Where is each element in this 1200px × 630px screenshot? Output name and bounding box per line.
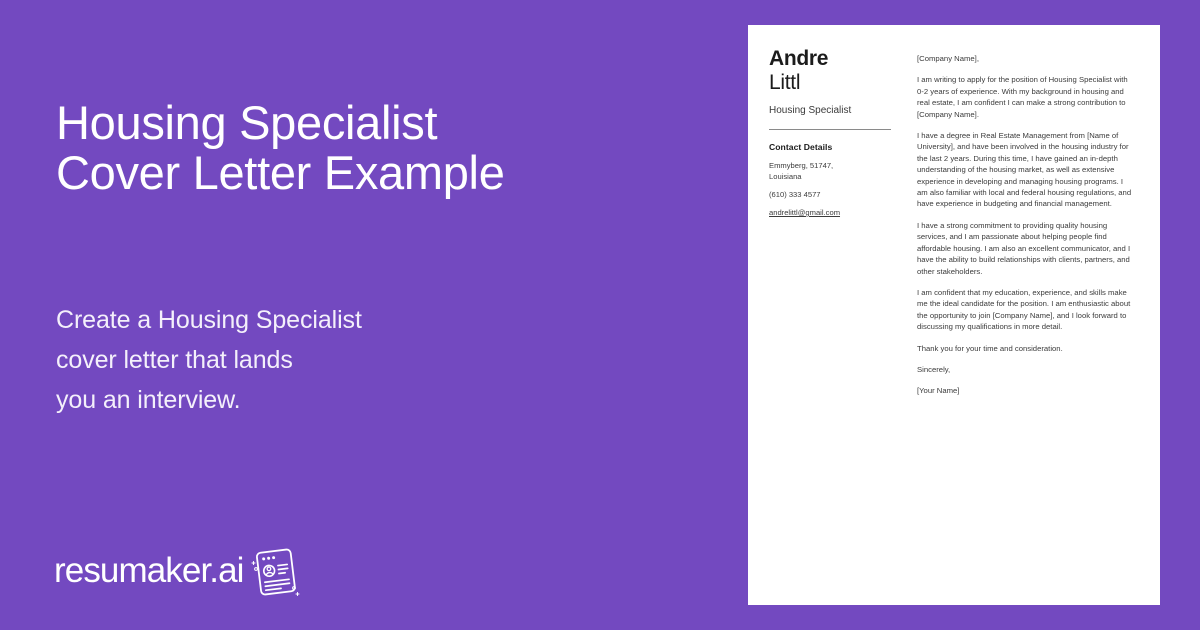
cover-letter-document: Andre Littl Housing Specialist Contact D… — [748, 25, 1160, 605]
letter-signature-placeholder: [Your Name] — [917, 385, 1133, 396]
contact-email[interactable]: andrelittl@gmail.com — [769, 207, 840, 218]
letter-paragraph: Thank you for your time and consideratio… — [917, 343, 1133, 354]
promo-subheading: Create a Housing Specialist cover letter… — [56, 300, 616, 420]
candidate-job-title: Housing Specialist — [769, 104, 891, 117]
candidate-first-name: Andre — [769, 47, 891, 70]
contact-details-heading: Contact Details — [769, 142, 891, 153]
contact-address: Emmyberg, 51747, Louisiana — [769, 160, 891, 182]
brand-logo[interactable]: resumaker.ai — [54, 547, 305, 595]
cover-letter-preview-card[interactable]: Andre Littl Housing Specialist Contact D… — [748, 25, 1160, 605]
letter-paragraph: I am confident that my education, experi… — [917, 287, 1133, 333]
candidate-last-name: Littl — [769, 71, 891, 94]
letter-paragraph: [Company Name], — [917, 53, 1133, 64]
letter-body: [Company Name], I am writing to apply fo… — [917, 53, 1133, 397]
letter-paragraph: I have a strong commitment to providing … — [917, 220, 1133, 277]
letter-sidebar: Andre Littl Housing Specialist Contact D… — [769, 47, 891, 220]
poster-canvas: Housing Specialist Cover Letter Example … — [0, 0, 1200, 630]
brand-logo-text: resumaker.ai — [54, 552, 244, 590]
contact-phone: (610) 333 4577 — [769, 189, 891, 200]
page-title: Housing Specialist Cover Letter Example — [56, 98, 696, 198]
letter-paragraph: I have a degree in Real Estate Managemen… — [917, 130, 1133, 210]
promo-panel: Housing Specialist Cover Letter Example … — [0, 0, 748, 630]
letter-paragraph: Sincerely, — [917, 364, 1133, 375]
sidebar-divider — [769, 129, 891, 130]
resume-document-icon — [247, 547, 305, 599]
letter-paragraph: I am writing to apply for the position o… — [917, 74, 1133, 120]
